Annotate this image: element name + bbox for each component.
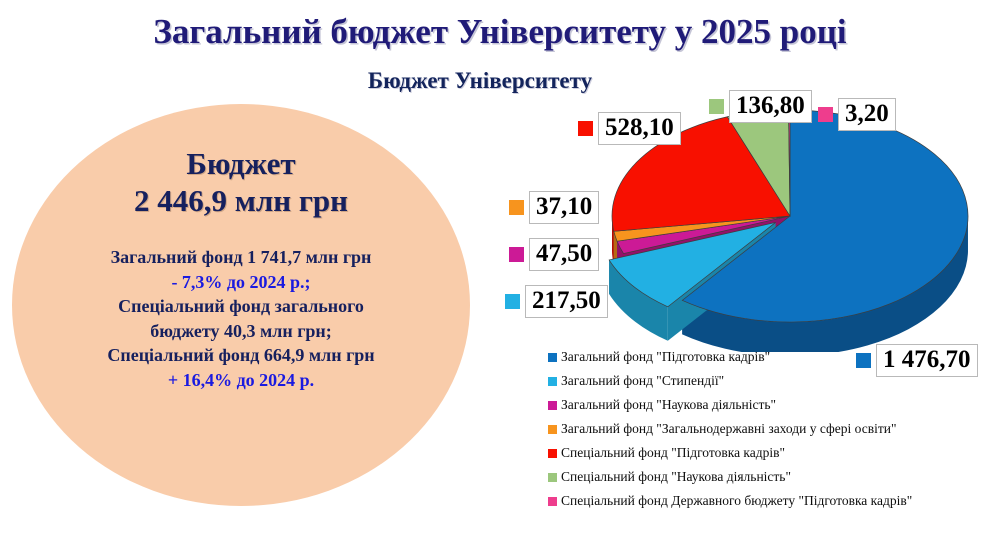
budget-detail-line: бюджету 40,3 млн грн;: [107, 319, 374, 343]
budget-detail-line: Спеціальний фонд загального: [107, 294, 374, 318]
data-label-value: 3,20: [838, 98, 896, 131]
legend-color-swatch-icon: [548, 473, 557, 482]
pie-data-label: 37,10: [509, 191, 599, 224]
legend-item: Спеціальний фонд Державного бюджету "Під…: [548, 489, 978, 513]
legend-item-label: Загальний фонд "Загальнодержавні заходи …: [561, 421, 896, 437]
data-label-value: 217,50: [525, 285, 608, 318]
legend-item: Спеціальний фонд "Наукова діяльність": [548, 465, 978, 489]
budget-detail-line: - 7,3% до 2024 р.;: [107, 270, 374, 294]
legend-item: Загальний фонд "Підготовка кадрів": [548, 345, 978, 369]
data-label-color-swatch-icon: [505, 294, 520, 309]
legend-item-label: Загальний фонд "Наукова діяльність": [561, 397, 776, 413]
budget-details-block: Загальний фонд 1 741,7 млн грн- 7,3% до …: [107, 245, 374, 392]
data-label-value: 37,10: [529, 191, 599, 224]
budget-summary-ellipse: Бюджет 2 446,9 млн грн Загальний фонд 1 …: [12, 104, 470, 506]
chart-subtitle: Бюджет Університету: [180, 68, 780, 94]
data-label-color-swatch-icon: [578, 121, 593, 136]
legend-color-swatch-icon: [548, 401, 557, 410]
pie-data-label: 47,50: [509, 238, 599, 271]
pie-data-label: 217,50: [505, 285, 608, 318]
legend-item: Загальний фонд "Стипендії": [548, 369, 978, 393]
pie-data-label: 528,10: [578, 112, 681, 145]
budget-summary-content: Бюджет 2 446,9 млн грн Загальний фонд 1 …: [12, 104, 470, 506]
legend-item-label: Спеціальний фонд "Наукова діяльність": [561, 469, 791, 485]
budget-detail-line: + 16,4% до 2024 р.: [107, 368, 374, 392]
legend-item-label: Загальний фонд "Підготовка кадрів": [561, 349, 770, 365]
legend-item: Загальний фонд "Загальнодержавні заходи …: [548, 417, 978, 441]
legend-color-swatch-icon: [548, 497, 557, 506]
slide-canvas: Загальний бюджет Університету у 2025 роц…: [0, 0, 1000, 538]
budget-heading-line1: Бюджет: [186, 146, 295, 183]
legend-color-swatch-icon: [548, 449, 557, 458]
data-label-value: 47,50: [529, 238, 599, 271]
data-label-color-swatch-icon: [509, 247, 524, 262]
legend-item: Спеціальний фонд "Підготовка кадрів": [548, 441, 978, 465]
legend-color-swatch-icon: [548, 377, 557, 386]
data-label-color-swatch-icon: [709, 99, 724, 114]
legend-item-label: Спеціальний фонд "Підготовка кадрів": [561, 445, 785, 461]
legend-item-label: Загальний фонд "Стипендії": [561, 373, 724, 389]
pie-data-label: 136,80: [709, 90, 812, 123]
data-label-value: 136,80: [729, 90, 812, 123]
legend-color-swatch-icon: [548, 353, 557, 362]
data-label-value: 528,10: [598, 112, 681, 145]
legend-item: Загальний фонд "Наукова діяльність": [548, 393, 978, 417]
legend-color-swatch-icon: [548, 425, 557, 434]
data-label-color-swatch-icon: [509, 200, 524, 215]
legend-item-label: Спеціальний фонд Державного бюджету "Під…: [561, 493, 912, 509]
page-title: Загальний бюджет Університету у 2025 роц…: [0, 12, 1000, 52]
chart-legend: Загальний фонд "Підготовка кадрів"Загаль…: [548, 345, 978, 513]
pie-data-label: 3,20: [818, 98, 896, 131]
budget-detail-line: Спеціальний фонд 664,9 млн грн: [107, 343, 374, 367]
budget-detail-line: Загальний фонд 1 741,7 млн грн: [107, 245, 374, 269]
budget-heading-line2: 2 446,9 млн грн: [134, 183, 348, 220]
data-label-color-swatch-icon: [818, 107, 833, 122]
